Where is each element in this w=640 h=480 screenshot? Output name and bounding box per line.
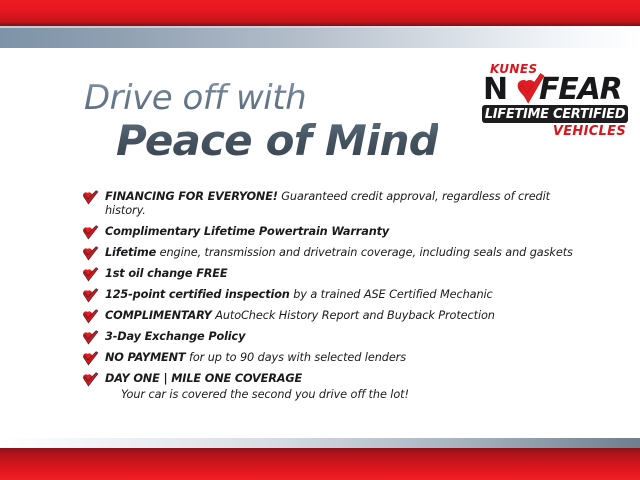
heart-check-bullet-icon [80,190,99,205]
advertisement-banner: Drive off with Peace of Mind KUNES N FEA… [0,0,640,480]
benefit-detail: by a trained ASE Certified Mechanic [290,288,493,301]
benefit-item: Lifetime engine, transmission and drivet… [80,246,580,260]
bottom-red-band [0,448,640,480]
benefit-item: 1st oil change FREE [80,267,580,281]
benefit-detail: for up to 90 days with selected lenders [185,351,406,364]
benefit-emphasis: NO PAYMENT [105,351,185,364]
benefit-emphasis: 3-Day Exchange Policy [105,330,245,343]
benefit-item: COMPLIMENTARY AutoCheck History Report a… [80,309,580,323]
heart-check-bullet-icon [80,309,99,324]
benefit-emphasis: Lifetime [105,246,156,259]
benefit-subtext: Your car is covered the second you drive… [121,388,580,402]
heart-check-bullet-icon [80,372,99,387]
headline: Drive off with Peace of Mind [84,80,438,164]
benefit-emphasis: Complimentary Lifetime Powertrain Warran… [105,225,389,238]
logo-vehicles-text: VEHICLES [553,125,626,139]
benefit-emphasis: 125-point certified inspection [105,288,290,301]
bottom-gray-band [0,438,640,448]
benefit-item: NO PAYMENT for up to 90 days with select… [80,351,580,365]
benefit-item: FINANCING FOR EVERYONE! Guaranteed credi… [80,190,580,218]
benefit-emphasis: DAY ONE | MILE ONE COVERAGE [105,372,302,385]
logo-lifetime-certified-banner: LIFETIME CERTIFIED [482,105,628,123]
benefit-detail: engine, transmission and drivetrain cove… [156,246,573,259]
benefit-emphasis: COMPLIMENTARY [105,309,212,322]
benefit-emphasis: 1st oil change FREE [105,267,227,280]
benefit-item: Complimentary Lifetime Powertrain Warran… [80,225,580,239]
heart-check-bullet-icon [80,351,99,366]
logo-word-fear: FEAR [539,75,622,105]
heart-check-bullet-icon [80,288,99,303]
headline-line-1: Drive off with [84,80,438,116]
heart-check-bullet-icon [80,267,99,282]
top-red-band [0,0,640,26]
benefit-detail: AutoCheck History Report and Buyback Pro… [212,309,495,322]
heart-check-bullet-icon [80,246,99,261]
kunes-no-fear-logo: KUNES N FEAR LIFETIME CERTIFIED VEHICLES [482,63,628,143]
content-area: Drive off with Peace of Mind KUNES N FEA… [0,48,640,438]
logo-letter-n: N [483,75,507,105]
benefit-item: DAY ONE | MILE ONE COVERAGEYour car is c… [80,372,580,402]
benefit-item: 125-point certified inspection by a trai… [80,288,580,302]
headline-line-2: Peace of Mind [116,118,438,164]
top-gray-band [0,26,640,48]
benefits-list: FINANCING FOR EVERYONE! Guaranteed credi… [80,190,580,409]
logo-nofear-wordmark: N FEAR [482,75,628,105]
benefit-item: 3-Day Exchange Policy [80,330,580,344]
logo-banner-text: LIFETIME CERTIFIED [485,108,625,121]
heart-check-bullet-icon [80,225,99,240]
benefit-emphasis: FINANCING FOR EVERYONE! [105,190,278,203]
heart-check-bullet-icon [80,330,99,345]
